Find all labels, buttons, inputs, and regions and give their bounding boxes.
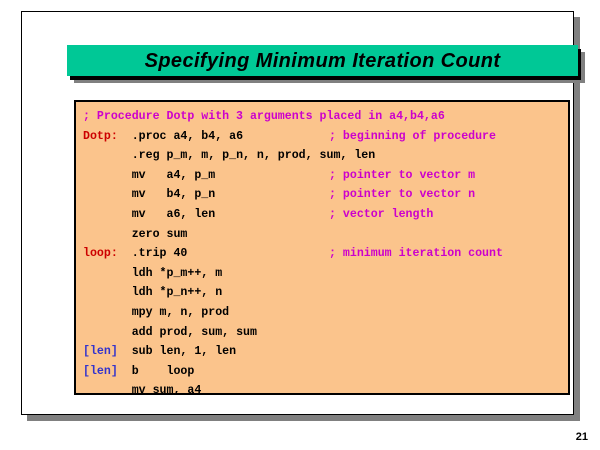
code-comment: ; pointer to vector n — [329, 185, 475, 205]
code-comment: ; beginning of procedure — [329, 127, 496, 147]
page-number: 21 — [562, 432, 588, 443]
code-label — [83, 267, 132, 280]
code-line: add prod, sum, sum — [83, 323, 566, 343]
code-instruction: b loop — [132, 365, 195, 378]
code-label — [83, 286, 132, 299]
code-comment: ; pointer to vector m — [329, 166, 475, 186]
code-line: zero sum — [83, 225, 566, 245]
code-line: mpy m, n, prod — [83, 303, 566, 323]
slide-title: Specifying Minimum Iteration Count — [145, 51, 501, 71]
slide-page: Specifying Minimum Iteration Count ; Pro… — [21, 11, 574, 415]
code-label — [83, 188, 132, 201]
code-instruction: .reg p_m, m, p_n, n, prod, sum, len — [132, 149, 376, 162]
code-instruction: .trip 40 — [132, 247, 188, 260]
slide-root: Specifying Minimum Iteration Count ; Pro… — [0, 0, 600, 450]
code-line: mv b4, p_n; pointer to vector n — [83, 185, 566, 205]
code-line: mv sum, a4 — [83, 381, 566, 395]
code-instruction: sub len, 1, len — [132, 345, 236, 358]
code-label — [83, 208, 132, 221]
code-comment: ; Procedure Dotp with 3 arguments placed… — [83, 110, 445, 123]
code-line: ldh *p_n++, n — [83, 283, 566, 303]
code-instruction: mv b4, p_n — [132, 188, 216, 201]
code-comment: ; minimum iteration count — [329, 244, 503, 264]
code-label: loop: — [83, 247, 132, 260]
code-line: loop: .trip 40; minimum iteration count — [83, 244, 566, 264]
code-label: Dotp: — [83, 130, 132, 143]
code-label — [83, 169, 132, 182]
code-label — [83, 228, 132, 241]
code-line: [len] sub len, 1, len — [83, 342, 566, 362]
code-label — [83, 384, 132, 395]
code-block-panel: ; Procedure Dotp with 3 arguments placed… — [74, 100, 570, 395]
code-instruction: add prod, sum, sum — [132, 326, 257, 339]
code-line: .reg p_m, m, p_n, n, prod, sum, len — [83, 146, 566, 166]
code-instruction: mv a6, len — [132, 208, 216, 221]
code-instruction: mv a4, p_m — [132, 169, 216, 182]
code-label — [83, 149, 132, 162]
code-predicate: [len] — [83, 345, 132, 358]
code-instruction: ldh *p_n++, n — [132, 286, 222, 299]
code-instruction: ldh *p_m++, m — [132, 267, 222, 280]
code-instruction: .proc a4, b4, a6 — [132, 130, 243, 143]
code-instruction: mpy m, n, prod — [132, 306, 229, 319]
code-label — [83, 326, 132, 339]
title-banner: Specifying Minimum Iteration Count — [67, 45, 578, 76]
code-instruction: mv sum, a4 — [132, 384, 202, 395]
code-line: [len] b loop — [83, 362, 566, 382]
code-line: mv a6, len; vector length — [83, 205, 566, 225]
code-line: mv a4, p_m; pointer to vector m — [83, 166, 566, 186]
code-line: Dotp: .proc a4, b4, a6; beginning of pro… — [83, 127, 566, 147]
code-line: ; Procedure Dotp with 3 arguments placed… — [83, 107, 566, 127]
code-instruction: zero sum — [132, 228, 188, 241]
code-predicate: [len] — [83, 365, 132, 378]
code-comment: ; vector length — [329, 205, 433, 225]
code-block-lines: ; Procedure Dotp with 3 arguments placed… — [83, 107, 566, 393]
code-line: ldh *p_m++, m — [83, 264, 566, 284]
code-label — [83, 306, 132, 319]
